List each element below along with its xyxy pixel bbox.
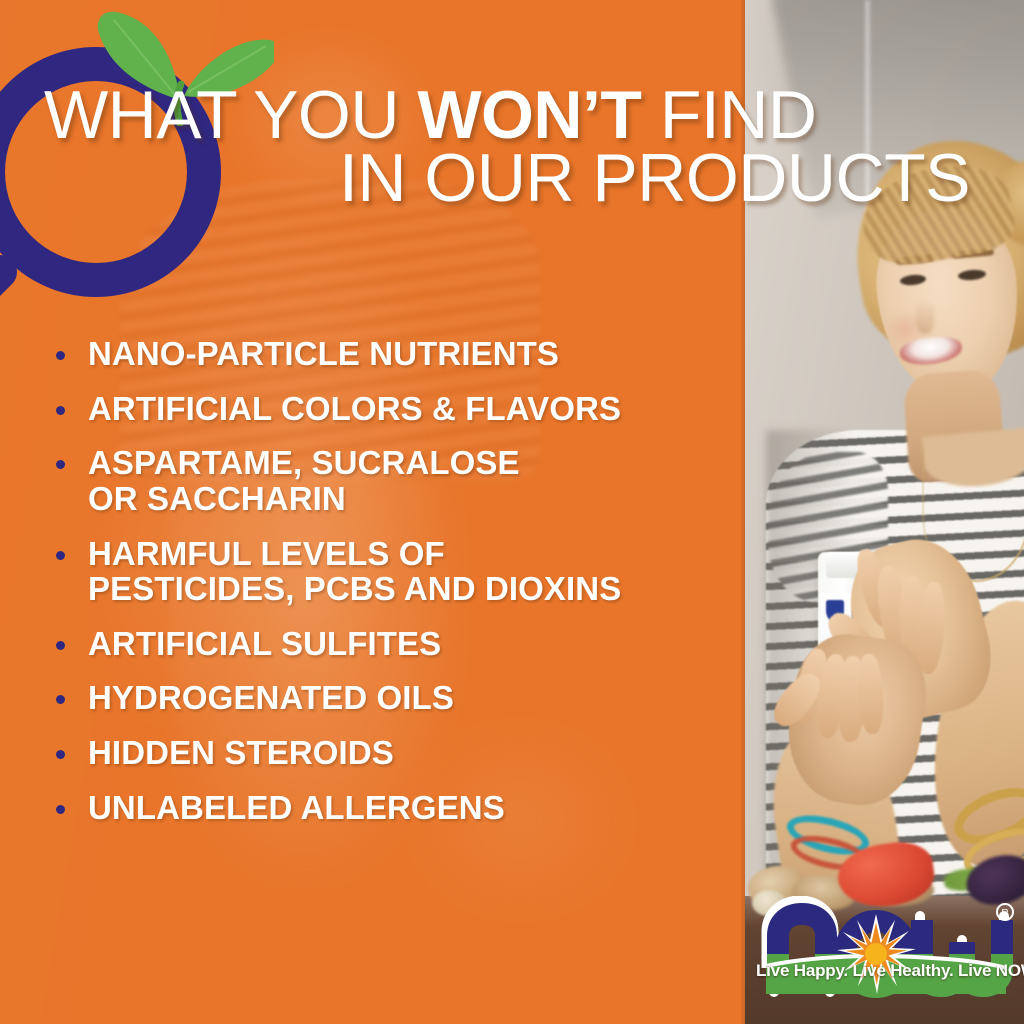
svg-text:R: R xyxy=(1001,908,1008,919)
logo-tagline: Live Happy. Live Healthy. Live NOW. xyxy=(756,961,1006,981)
list-item: NANO-PARTICLE NUTRIENTS xyxy=(44,336,744,372)
excluded-ingredients-list: NANO-PARTICLE NUTRIENTS ARTIFICIAL COLOR… xyxy=(44,336,744,844)
list-item: HIDDEN STEROIDS xyxy=(44,735,744,771)
registered-trademark-icon: R xyxy=(997,904,1013,920)
list-item: ASPARTAME, SUCRALOSE OR SACCHARIN xyxy=(44,445,744,516)
now-foods-logo: R xyxy=(752,896,1014,1000)
list-item: ARTIFICIAL SULFITES xyxy=(44,626,744,662)
list-item: HARMFUL LEVELS OF PESTICIDES, PCBS AND D… xyxy=(44,536,744,607)
nose xyxy=(916,300,934,334)
list-item: HYDROGENATED OILS xyxy=(44,680,744,716)
list-item: ARTIFICIAL COLORS & FLAVORS xyxy=(44,391,744,427)
list-item: UNLABELED ALLERGENS xyxy=(44,790,744,826)
page-title: WHAT YOU WON’T FIND IN OUR PRODUCTS xyxy=(44,84,988,209)
headline-line2: IN OUR PRODUCTS xyxy=(44,147,988,210)
marketing-graphic: WHAT YOU WON’T FIND IN OUR PRODUCTS NANO… xyxy=(0,0,1024,1024)
